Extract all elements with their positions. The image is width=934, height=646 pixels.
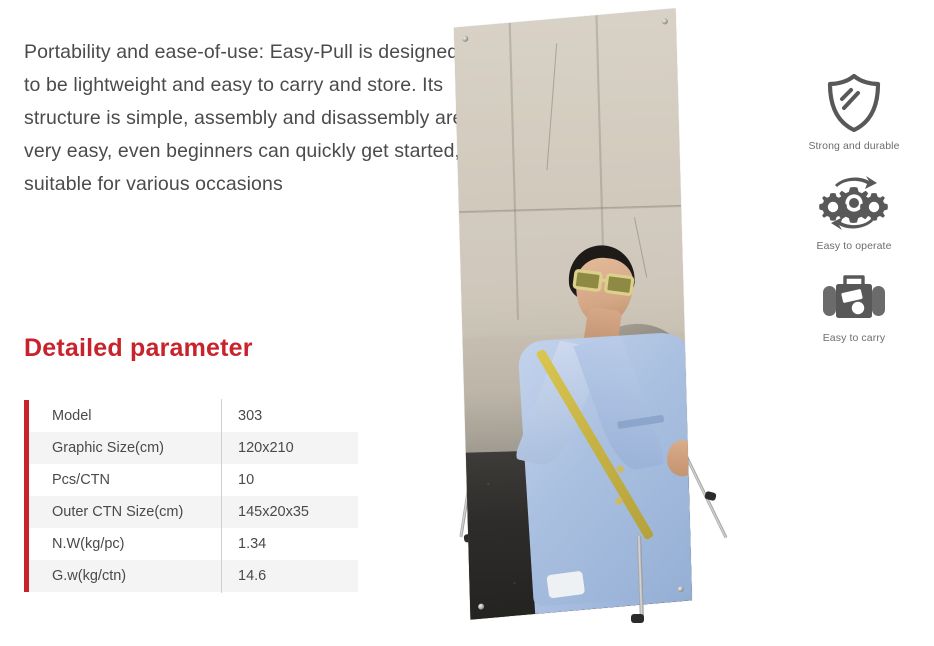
sunglass-lens-left [572, 269, 603, 293]
spec-label: Outer CTN Size(cm) [29, 496, 222, 528]
spec-label: G.w(kg/ctn) [29, 560, 222, 592]
spec-value: 14.6 [222, 560, 358, 592]
product-description-paragraph: Portability and ease-of-use: Easy-Pull i… [24, 36, 476, 201]
table-row: Model 303 [29, 400, 358, 432]
table-row: Graphic Size(cm) 120x210 [29, 432, 358, 464]
stand-foot-center [631, 614, 644, 623]
table-row: Outer CTN Size(cm) 145x20x35 [29, 496, 358, 528]
spec-value: 120x210 [222, 432, 358, 464]
table-row: N.W(kg/pc) 1.34 [29, 528, 358, 560]
model-figure [454, 8, 692, 619]
spec-label: Graphic Size(cm) [29, 432, 222, 464]
spec-label: Model [29, 400, 222, 432]
suitcase-icon [774, 270, 934, 328]
banner-graphic [454, 8, 692, 619]
spec-value: 1.34 [222, 528, 358, 560]
feature-list: Strong and durable Easy to operate [774, 70, 934, 362]
spec-table-container: Model 303 Graphic Size(cm) 120x210 Pcs/C… [24, 400, 358, 592]
spec-value: 145x20x35 [222, 496, 358, 528]
spec-value: 303 [222, 400, 358, 432]
feature-label: Easy to operate [774, 240, 934, 252]
table-row: Pcs/CTN 10 [29, 464, 358, 496]
sunglass-lens-right [604, 273, 635, 297]
product-image [440, 0, 760, 646]
feature-item-easy-to-operate: Easy to operate [774, 170, 934, 252]
feature-label: Easy to carry [774, 332, 934, 344]
table-row: G.w(kg/ctn) 14.6 [29, 560, 358, 592]
page-title: Detailed parameter [24, 334, 253, 363]
feature-label: Strong and durable [774, 140, 934, 152]
spec-label: Pcs/CTN [29, 464, 222, 496]
shield-icon [774, 70, 934, 136]
model-cuff [546, 571, 585, 599]
gears-rotation-icon [774, 170, 934, 236]
specification-table: Model 303 Graphic Size(cm) 120x210 Pcs/C… [29, 400, 358, 592]
spec-label: N.W(kg/pc) [29, 528, 222, 560]
feature-item-strong-and-durable: Strong and durable [774, 70, 934, 152]
feature-item-easy-to-carry: Easy to carry [774, 270, 934, 344]
spec-value: 10 [222, 464, 358, 496]
